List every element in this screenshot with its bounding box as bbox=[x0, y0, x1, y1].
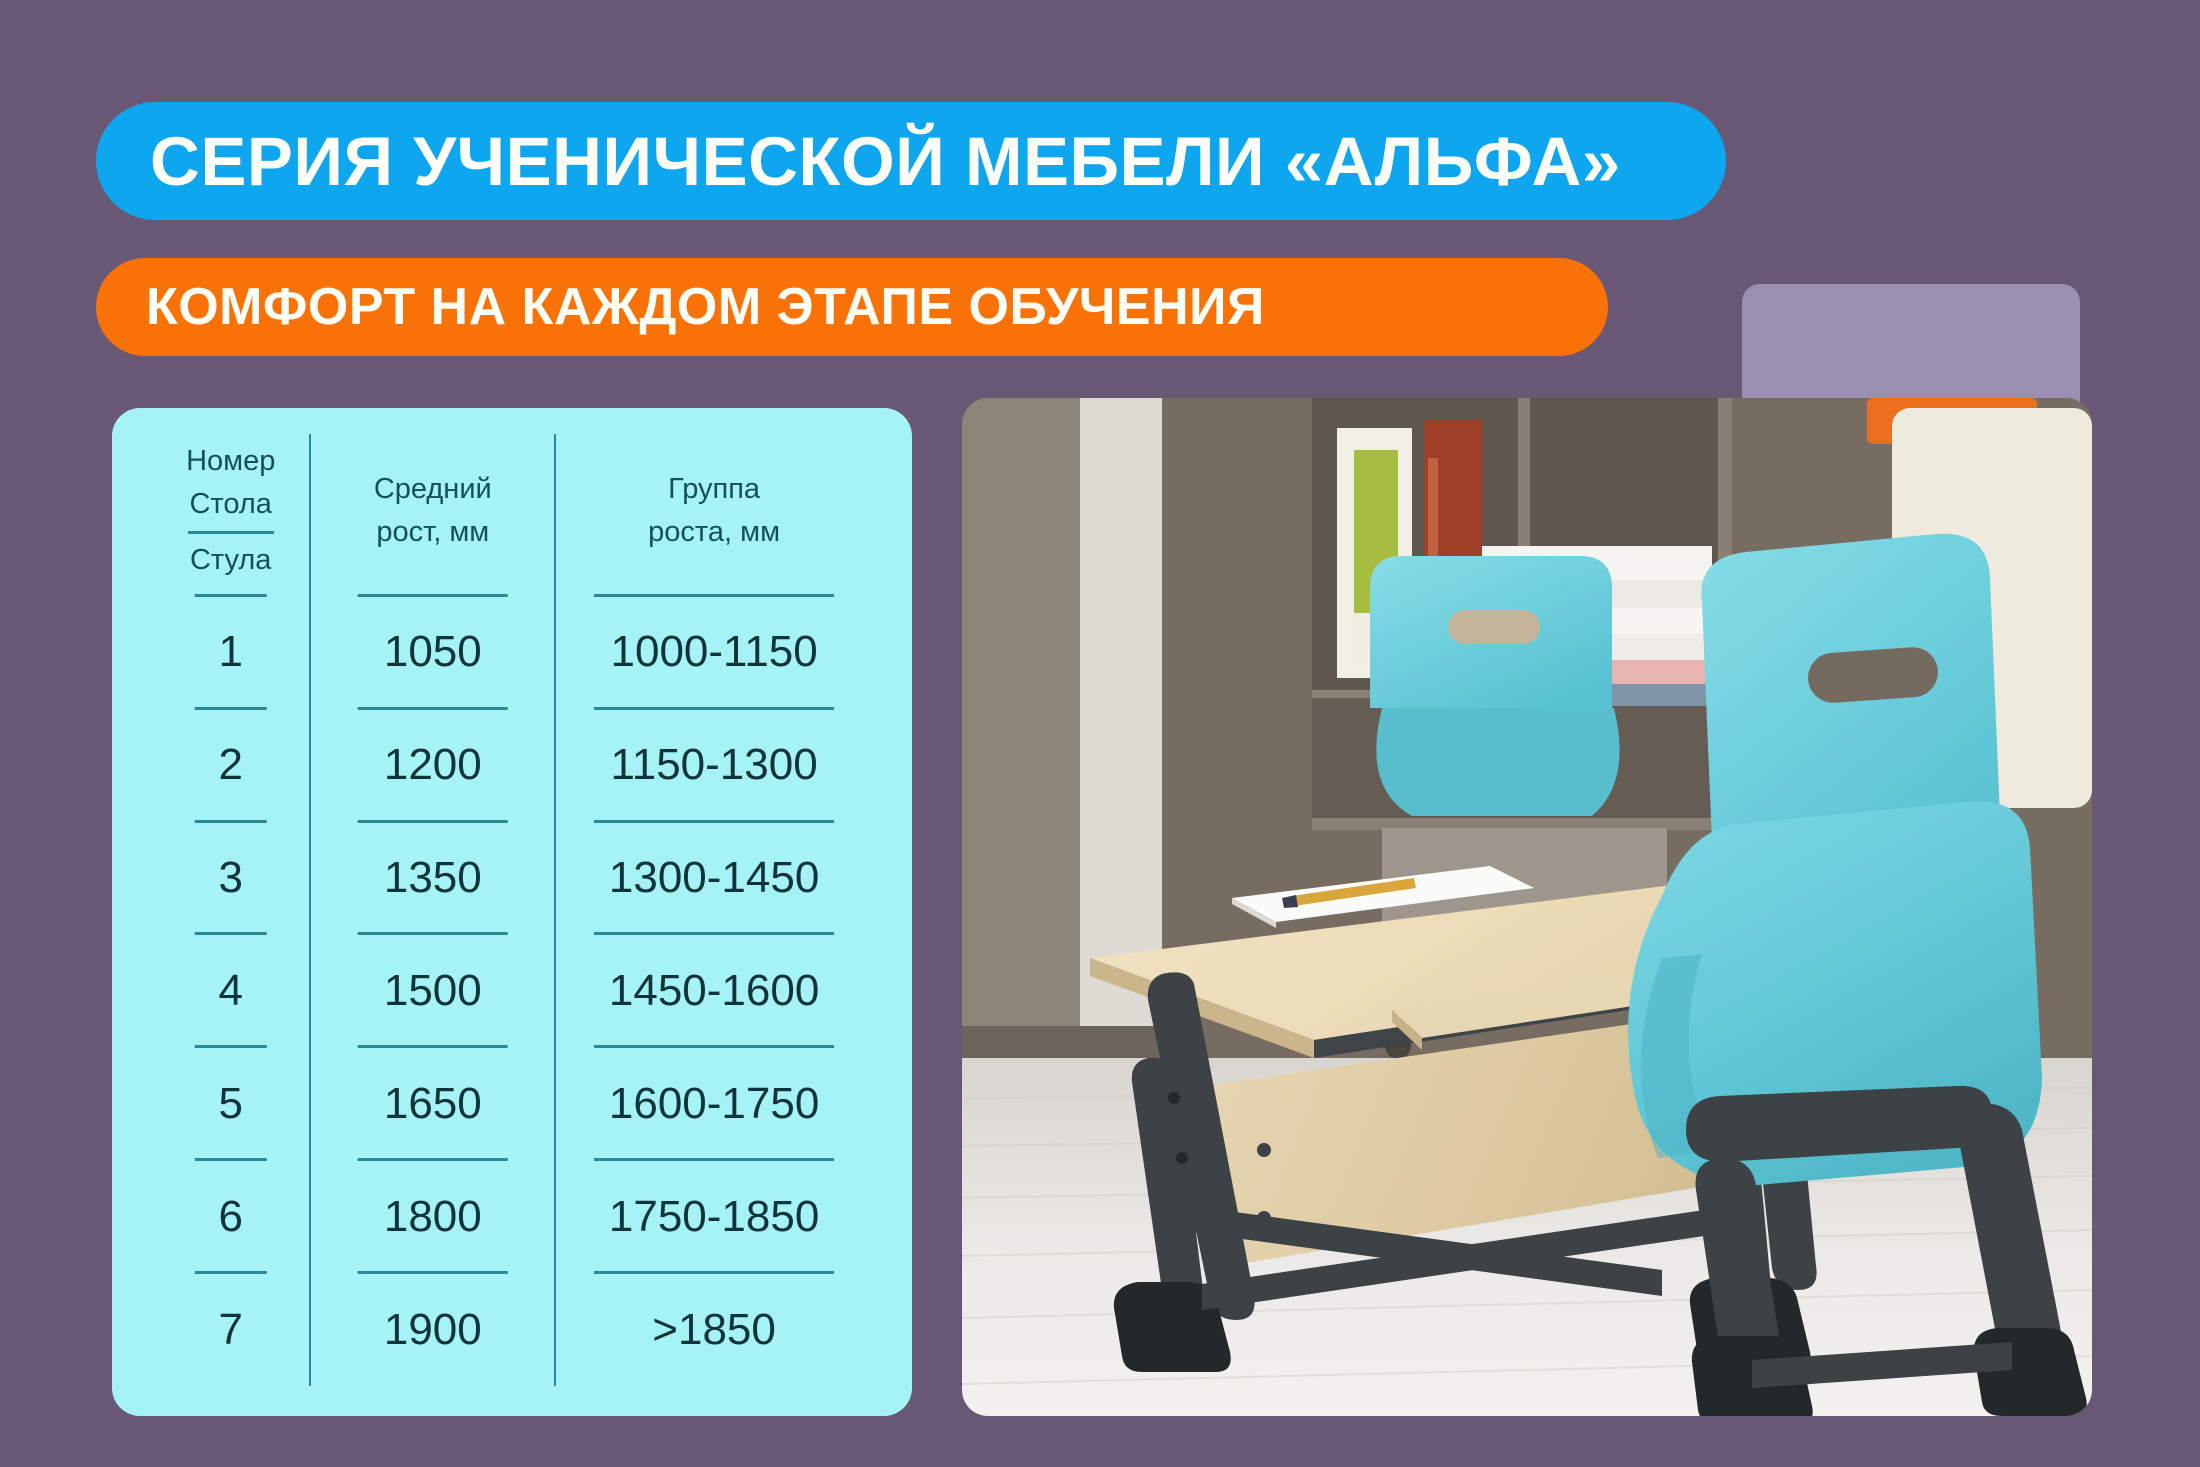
page-title: СЕРИЯ УЧЕНИЧЕСКОЙ МЕБЕЛИ «АЛЬФА» bbox=[150, 122, 1621, 201]
column-header-height-group-line1: Группа bbox=[668, 473, 760, 505]
column-header-number-top: Номер bbox=[186, 445, 275, 477]
cell-height-group: 1750-1850 bbox=[555, 1160, 872, 1273]
table-row: 2 1200 1150-1300 bbox=[152, 709, 872, 822]
column-header-desk: Стола bbox=[188, 483, 274, 526]
classroom-scene-illustration bbox=[962, 398, 2092, 1416]
cell-average-height: 1800 bbox=[310, 1160, 555, 1273]
table-row: 1 1050 1000-1150 bbox=[152, 596, 872, 709]
cell-number: 2 bbox=[152, 709, 310, 822]
page-subtitle: КОМФОРТ НА КАЖДОМ ЭТАПЕ ОБУЧЕНИЯ bbox=[146, 277, 1265, 337]
wall-baseboard bbox=[962, 1026, 1167, 1060]
cell-height-group: >1850 bbox=[555, 1273, 872, 1386]
fraction-bar-icon bbox=[188, 531, 274, 534]
cell-number: 4 bbox=[152, 934, 310, 1047]
table-body: 1 1050 1000-1150 2 1200 1150-1300 3 1350… bbox=[152, 596, 872, 1386]
table-row: 6 1800 1750-1850 bbox=[152, 1160, 872, 1273]
cell-height-group: 1150-1300 bbox=[555, 709, 872, 822]
size-table: Номер Стола Стула Средний рост, мм Групп… bbox=[152, 434, 872, 1386]
chair-back bbox=[1370, 556, 1620, 816]
cell-height-group: 1300-1450 bbox=[555, 822, 872, 935]
column-header-average-height-line1: Средний bbox=[374, 473, 492, 505]
column-header-average-height: Средний рост, мм bbox=[310, 434, 555, 596]
cell-average-height: 1050 bbox=[310, 596, 555, 709]
wall-left-panel bbox=[962, 398, 1082, 1038]
cell-average-height: 1500 bbox=[310, 934, 555, 1047]
cell-height-group: 1600-1750 bbox=[555, 1047, 872, 1160]
page-title-banner: СЕРИЯ УЧЕНИЧЕСКОЙ МЕБЕЛИ «АЛЬФА» bbox=[96, 102, 1726, 220]
cell-number: 1 bbox=[152, 596, 310, 709]
cell-number: 7 bbox=[152, 1273, 310, 1386]
table-header: Номер Стола Стула Средний рост, мм Групп… bbox=[152, 434, 872, 596]
cell-number: 3 bbox=[152, 822, 310, 935]
cell-number: 5 bbox=[152, 1047, 310, 1160]
table-row: 3 1350 1300-1450 bbox=[152, 822, 872, 935]
column-header-height-group-line2: роста, мм bbox=[648, 516, 780, 548]
column-header-height-group: Группа роста, мм bbox=[555, 434, 872, 596]
cell-average-height: 1650 bbox=[310, 1047, 555, 1160]
table-row: 7 1900 >1850 bbox=[152, 1273, 872, 1386]
column-header-number: Номер Стола Стула bbox=[152, 434, 310, 596]
column-header-number-fraction: Стола Стула bbox=[184, 483, 278, 582]
size-table-card: Номер Стола Стула Средний рост, мм Групп… bbox=[112, 408, 912, 1416]
page-subtitle-banner: КОМФОРТ НА КАЖДОМ ЭТАПЕ ОБУЧЕНИЯ bbox=[96, 258, 1608, 356]
cell-number: 6 bbox=[152, 1160, 310, 1273]
cell-height-group: 1450-1600 bbox=[555, 934, 872, 1047]
cell-average-height: 1900 bbox=[310, 1273, 555, 1386]
chair-handle-slot bbox=[1806, 646, 1939, 705]
cell-average-height: 1200 bbox=[310, 709, 555, 822]
cell-height-group: 1000-1150 bbox=[555, 596, 872, 709]
column-header-average-height-line2: рост, мм bbox=[376, 516, 489, 548]
table-row: 4 1500 1450-1600 bbox=[152, 934, 872, 1047]
table-row: 5 1650 1600-1750 bbox=[152, 1047, 872, 1160]
product-photo bbox=[962, 398, 2092, 1416]
cell-average-height: 1350 bbox=[310, 822, 555, 935]
chair-back-handle-slot bbox=[1448, 610, 1540, 644]
column-header-chair: Стула bbox=[188, 539, 274, 582]
